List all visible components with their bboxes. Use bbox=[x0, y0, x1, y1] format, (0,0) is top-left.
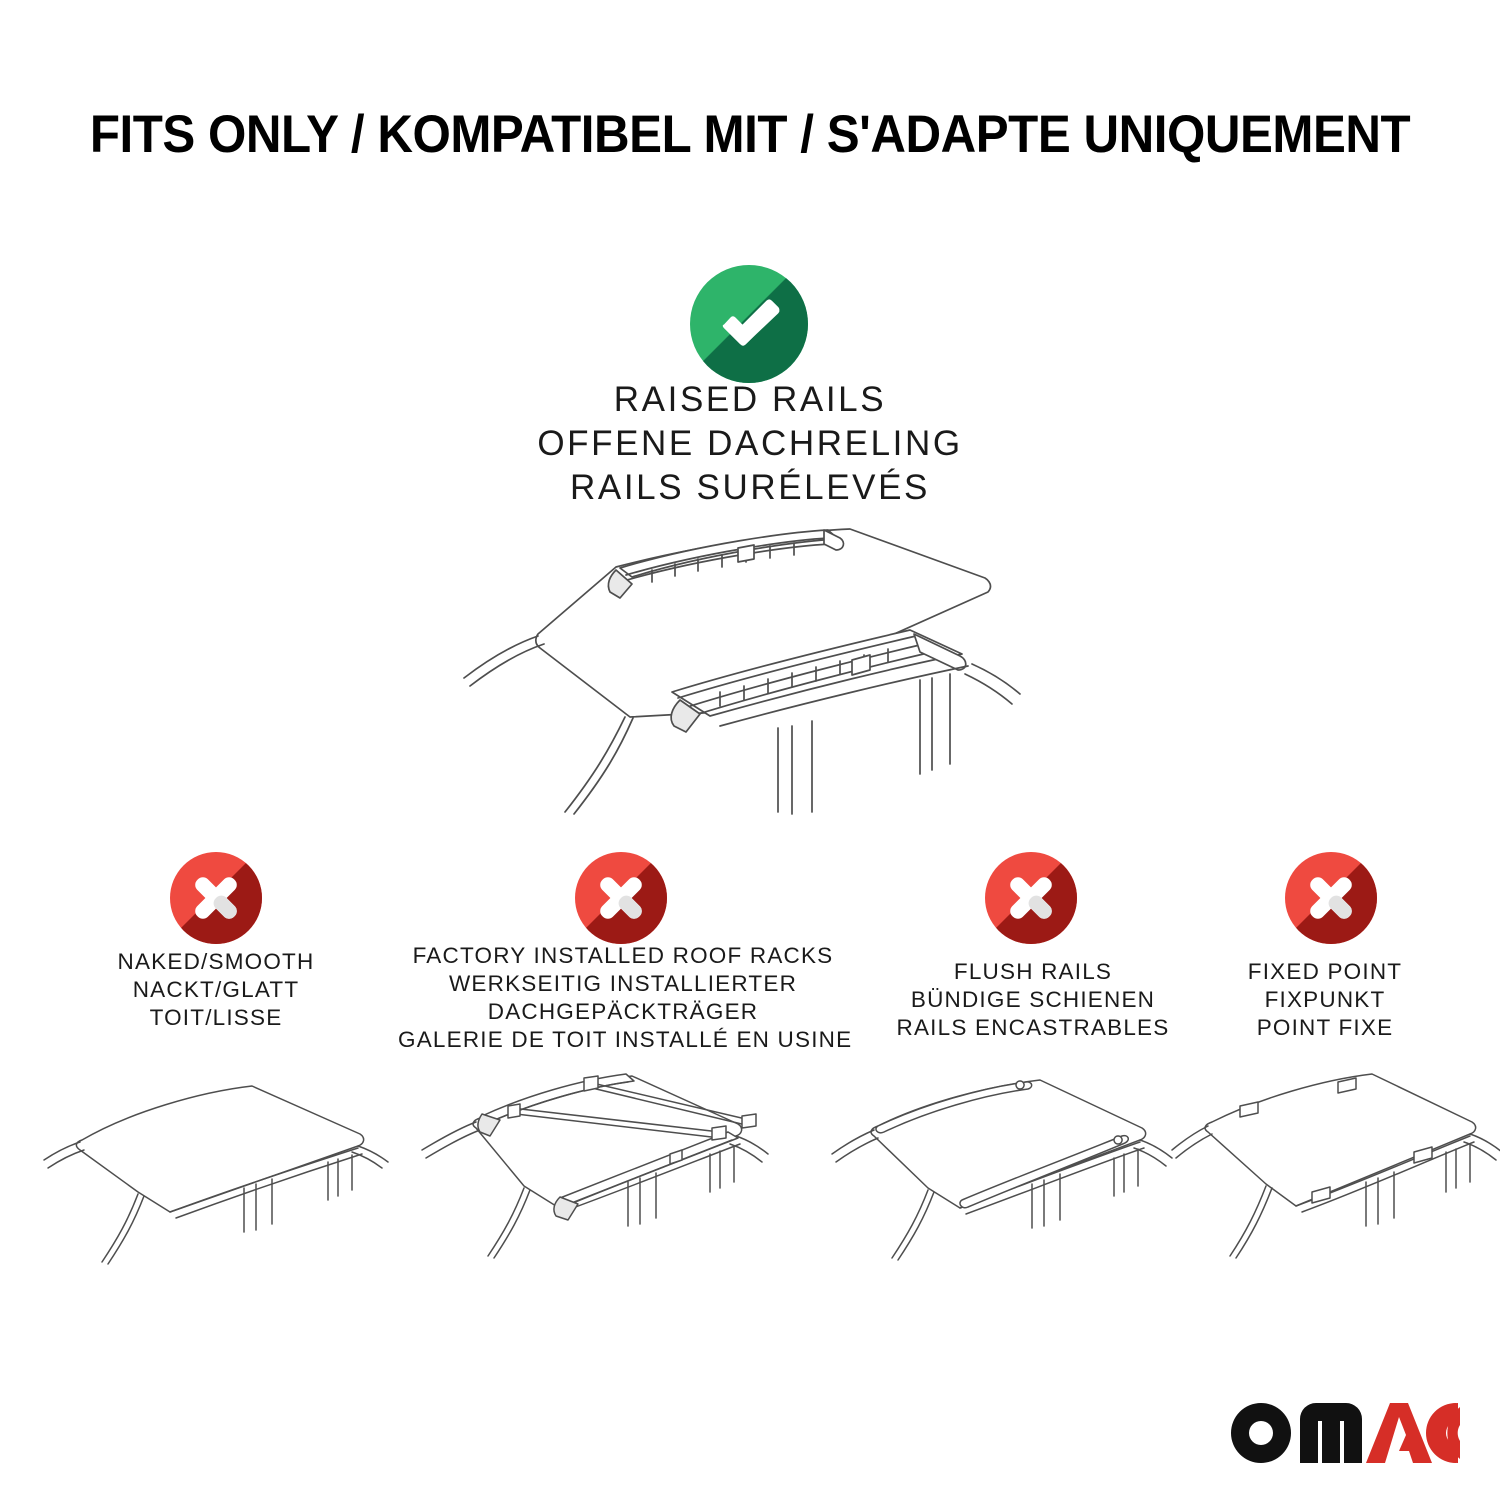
car-roof-fixed-point-illustration bbox=[1170, 1060, 1500, 1275]
x-circle-icon bbox=[575, 852, 667, 944]
x-mark-glyph bbox=[575, 852, 667, 944]
omac-logo-mark bbox=[1228, 1399, 1460, 1471]
fixed-point-line-2: FIXPUNKT bbox=[1180, 986, 1470, 1014]
compatible-caption: RAISED RAILS OFFENE DACHRELING RAILS SUR… bbox=[0, 378, 1500, 510]
x-mark-glyph bbox=[1285, 852, 1377, 944]
car-roof-factory-roof-racks-illustration bbox=[420, 1058, 790, 1278]
factory-roof-racks-caption: FACTORY INSTALLED ROOF RACKS WERKSEITIG … bbox=[398, 942, 848, 1054]
check-circle-icon bbox=[690, 265, 808, 383]
compatible-line-1: RAISED RAILS bbox=[0, 378, 1500, 422]
naked-smooth-line-3: TOIT/LISSE bbox=[30, 1004, 402, 1032]
car-roof-raised-rails-illustration bbox=[420, 512, 1080, 832]
factory-roof-racks-line-1: FACTORY INSTALLED ROOF RACKS bbox=[398, 942, 848, 970]
factory-roof-racks-line-3: DACHGEPÄCKTRÄGER bbox=[398, 998, 848, 1026]
flush-rails-caption: FLUSH RAILS BÜNDIGE SCHIENEN RAILS ENCAS… bbox=[848, 958, 1218, 1042]
flush-rails-line-1: FLUSH RAILS bbox=[848, 958, 1218, 986]
flush-rails-line-2: BÜNDIGE SCHIENEN bbox=[848, 986, 1218, 1014]
x-mark-glyph bbox=[985, 852, 1077, 944]
naked-smooth-line-1: NAKED/SMOOTH bbox=[30, 948, 402, 976]
fixed-point-caption: FIXED POINT FIXPUNKT POINT FIXE bbox=[1180, 958, 1470, 1042]
factory-roof-racks-line-4: GALERIE DE TOIT INSTALLÉ EN USINE bbox=[398, 1026, 848, 1054]
factory-roof-racks-line-2: WERKSEITIG INSTALLIERTER bbox=[398, 970, 848, 998]
car-roof-flush-rails-illustration bbox=[830, 1060, 1200, 1275]
page-title: FITS ONLY / KOMPATIBEL MIT / S'ADAPTE UN… bbox=[53, 104, 1448, 166]
x-circle-icon bbox=[1285, 852, 1377, 944]
fixed-point-line-3: POINT FIXE bbox=[1180, 1014, 1470, 1042]
compatible-line-2: OFFENE DACHRELING bbox=[0, 422, 1500, 466]
x-mark-glyph bbox=[170, 852, 262, 944]
naked-smooth-line-2: NACKT/GLATT bbox=[30, 976, 402, 1004]
omac-logo bbox=[1228, 1399, 1460, 1471]
flush-rails-line-3: RAILS ENCASTRABLES bbox=[848, 1014, 1218, 1042]
naked-smooth-caption: NAKED/SMOOTH NACKT/GLATT TOIT/LISSE bbox=[30, 948, 402, 1032]
x-circle-icon bbox=[170, 852, 262, 944]
check-mark-glyph bbox=[690, 265, 808, 383]
compatible-line-3: RAILS SURÉLEVÉS bbox=[0, 466, 1500, 510]
fixed-point-line-1: FIXED POINT bbox=[1180, 958, 1470, 986]
x-circle-icon bbox=[985, 852, 1077, 944]
car-roof-naked-smooth-illustration bbox=[40, 1062, 410, 1277]
